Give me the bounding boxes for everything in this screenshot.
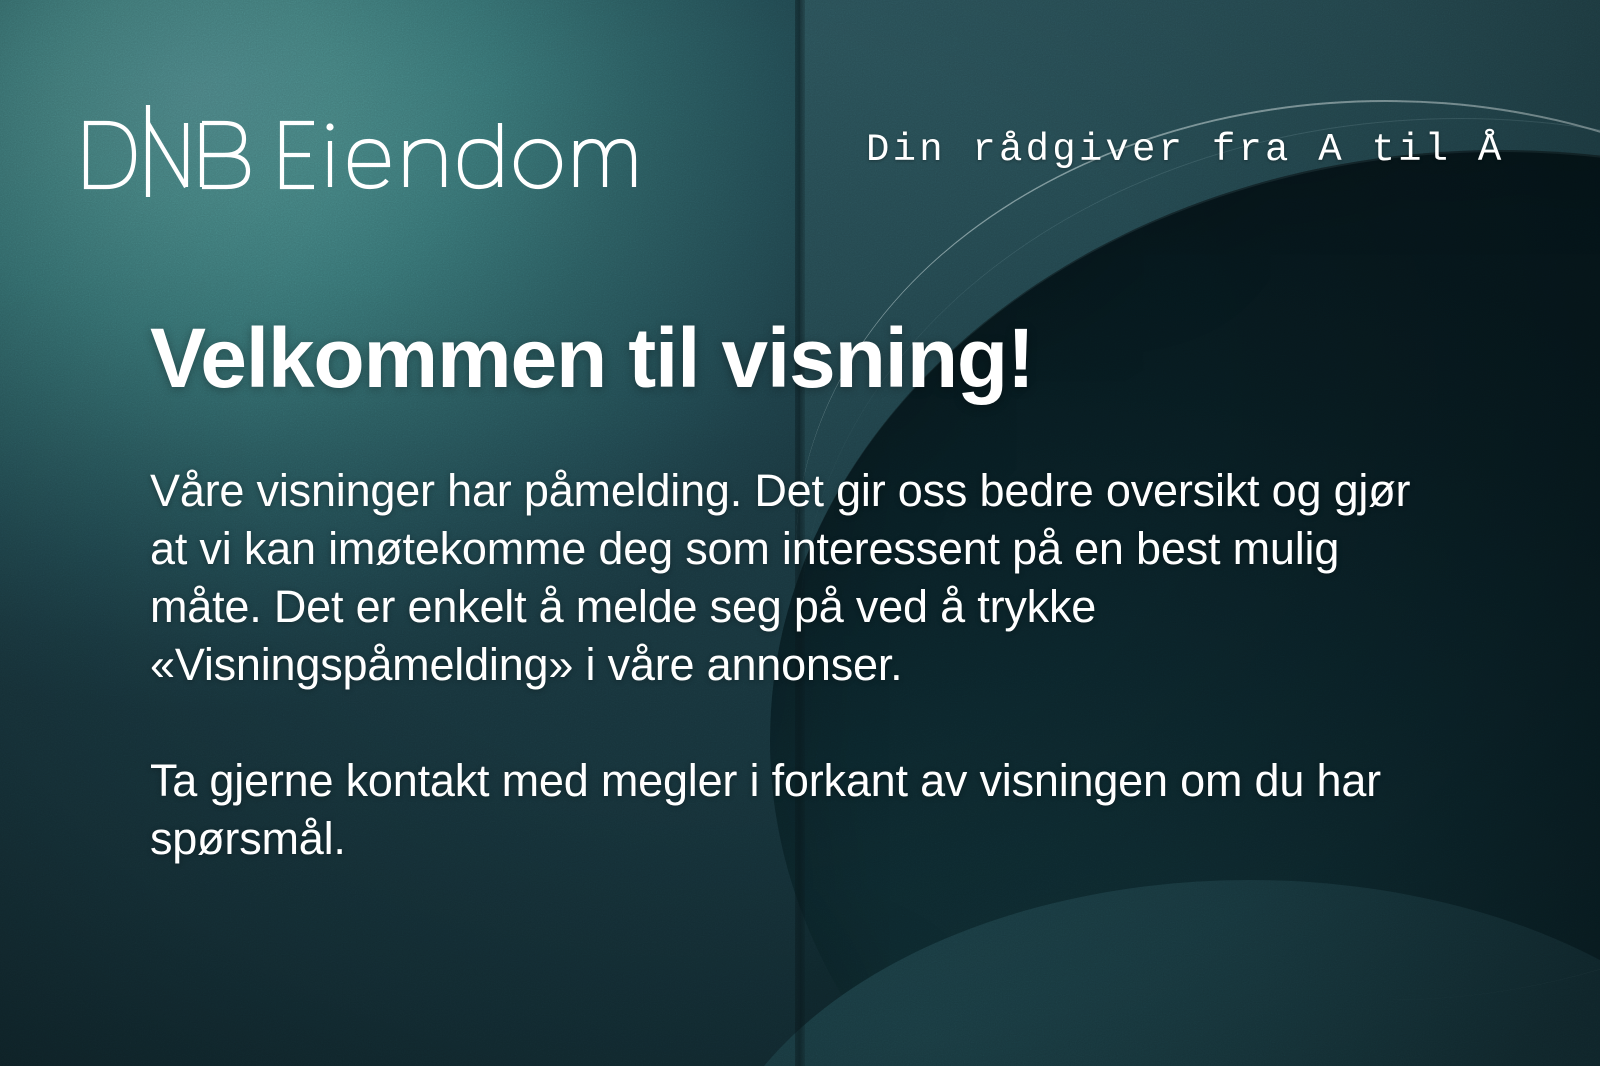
body-paragraph-2: Ta gjerne kontakt med megler i forkant a…	[150, 752, 1440, 868]
body-copy: Våre visninger har påmelding. Det gir os…	[150, 462, 1440, 868]
slide-canvas: Din rådgiver fra A til Å Velkommen til v…	[0, 0, 1600, 1066]
tagline: Din rådgiver fra A til Å	[866, 128, 1505, 172]
page-title: Velkommen til visning!	[150, 316, 1034, 400]
body-paragraph-1: Våre visninger har påmelding. Det gir os…	[150, 462, 1440, 694]
paragraph-spacer	[150, 694, 1440, 752]
dnb-eiendom-logo	[82, 105, 602, 197]
slide-content: Din rådgiver fra A til Å Velkommen til v…	[0, 0, 1600, 1066]
